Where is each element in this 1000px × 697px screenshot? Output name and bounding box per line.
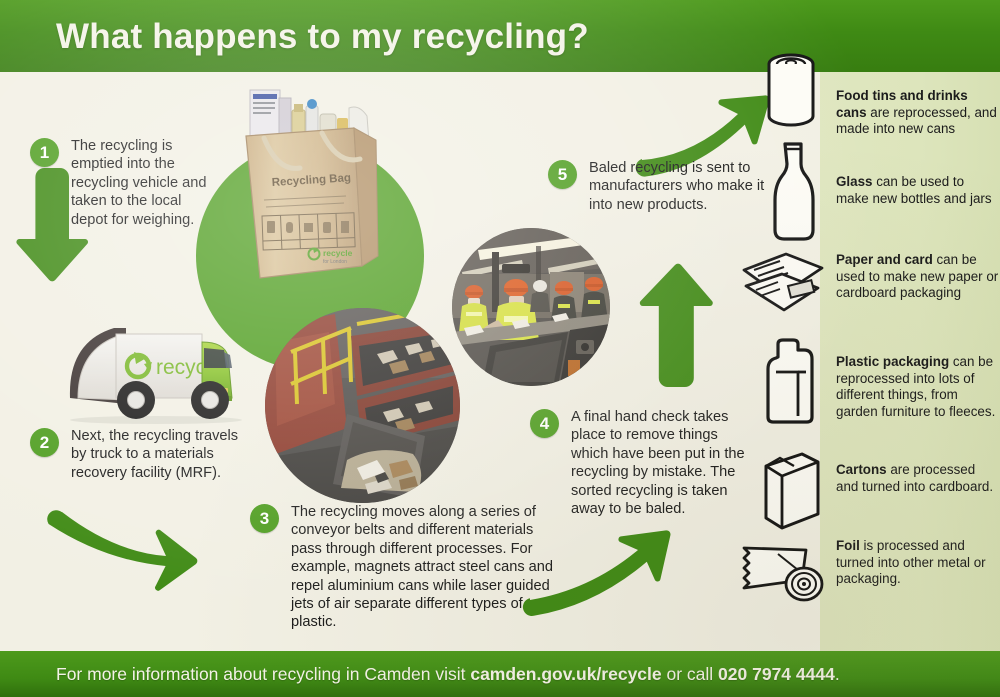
poster: What happens to my recycling? For more i…: [0, 0, 1000, 697]
footer-middle: or call: [662, 664, 718, 684]
arrow-step5-curve: [632, 82, 777, 170]
step-3-text: The recycling moves along a series of co…: [291, 503, 566, 632]
step-3-number: 3: [250, 504, 279, 533]
paper-card-icon: [740, 252, 826, 314]
step-4-text: A final hand check takes place to remove…: [571, 408, 756, 518]
material-paper-card: Paper and card can be used to make new p…: [836, 252, 1000, 302]
plastic-bottle-icon: [762, 338, 818, 428]
material-glass: Glass can be used to make new bottles an…: [836, 174, 1000, 207]
step-5-number: 5: [548, 160, 577, 189]
material-4-bold: Cartons: [836, 462, 887, 477]
step-1-text: The recycling is emptied into the recycl…: [71, 137, 221, 229]
material-plastic-packaging: Plastic packaging can be reprocessed int…: [836, 354, 1000, 420]
page-title: What happens to my recycling?: [56, 17, 589, 57]
svg-text:for London: for London: [323, 259, 347, 265]
step-2-text: Next, the recycling travels by truck to …: [71, 427, 256, 482]
material-3-bold: Plastic packaging: [836, 354, 949, 369]
carton-icon: [760, 448, 822, 532]
material-5-bold: Foil: [836, 538, 860, 553]
foil-roll-icon: [738, 534, 828, 606]
step-2-number: 2: [30, 428, 59, 457]
step-1-number: 1: [30, 138, 59, 167]
recycling-bag-image: Recycling Bag: [236, 88, 386, 283]
material-food-tins-cans: Food tins and drinks cans are reprocesse…: [836, 88, 1000, 138]
arrow-step4-up: [644, 262, 714, 387]
arrow-step2-curve: [48, 500, 208, 582]
footer-website[interactable]: camden.gov.uk/recycle: [470, 664, 661, 684]
svg-text:recycle: recycle: [323, 248, 353, 258]
step-5-text: Baled recycling is sent to manufacturers…: [589, 159, 779, 214]
material-1-bold: Glass: [836, 174, 872, 189]
footer-contact: For more information about recycling in …: [56, 664, 840, 685]
material-foil: Foil is processed and turned into other …: [836, 538, 1000, 588]
footer-end: .: [835, 664, 840, 684]
step-4-number: 4: [530, 409, 559, 438]
recycling-truck-image: recycle: [64, 312, 266, 424]
material-cartons: Cartons are processed and turned into ca…: [836, 462, 1000, 495]
drinks-can-icon: [762, 50, 820, 132]
material-2-bold: Paper and card: [836, 252, 933, 267]
photo-hand-sorting: [452, 228, 610, 386]
footer-phone: 020 7974 4444: [718, 664, 835, 684]
photo-mrf-conveyors: [265, 308, 460, 503]
footer-lead: For more information about recycling in …: [56, 664, 470, 684]
